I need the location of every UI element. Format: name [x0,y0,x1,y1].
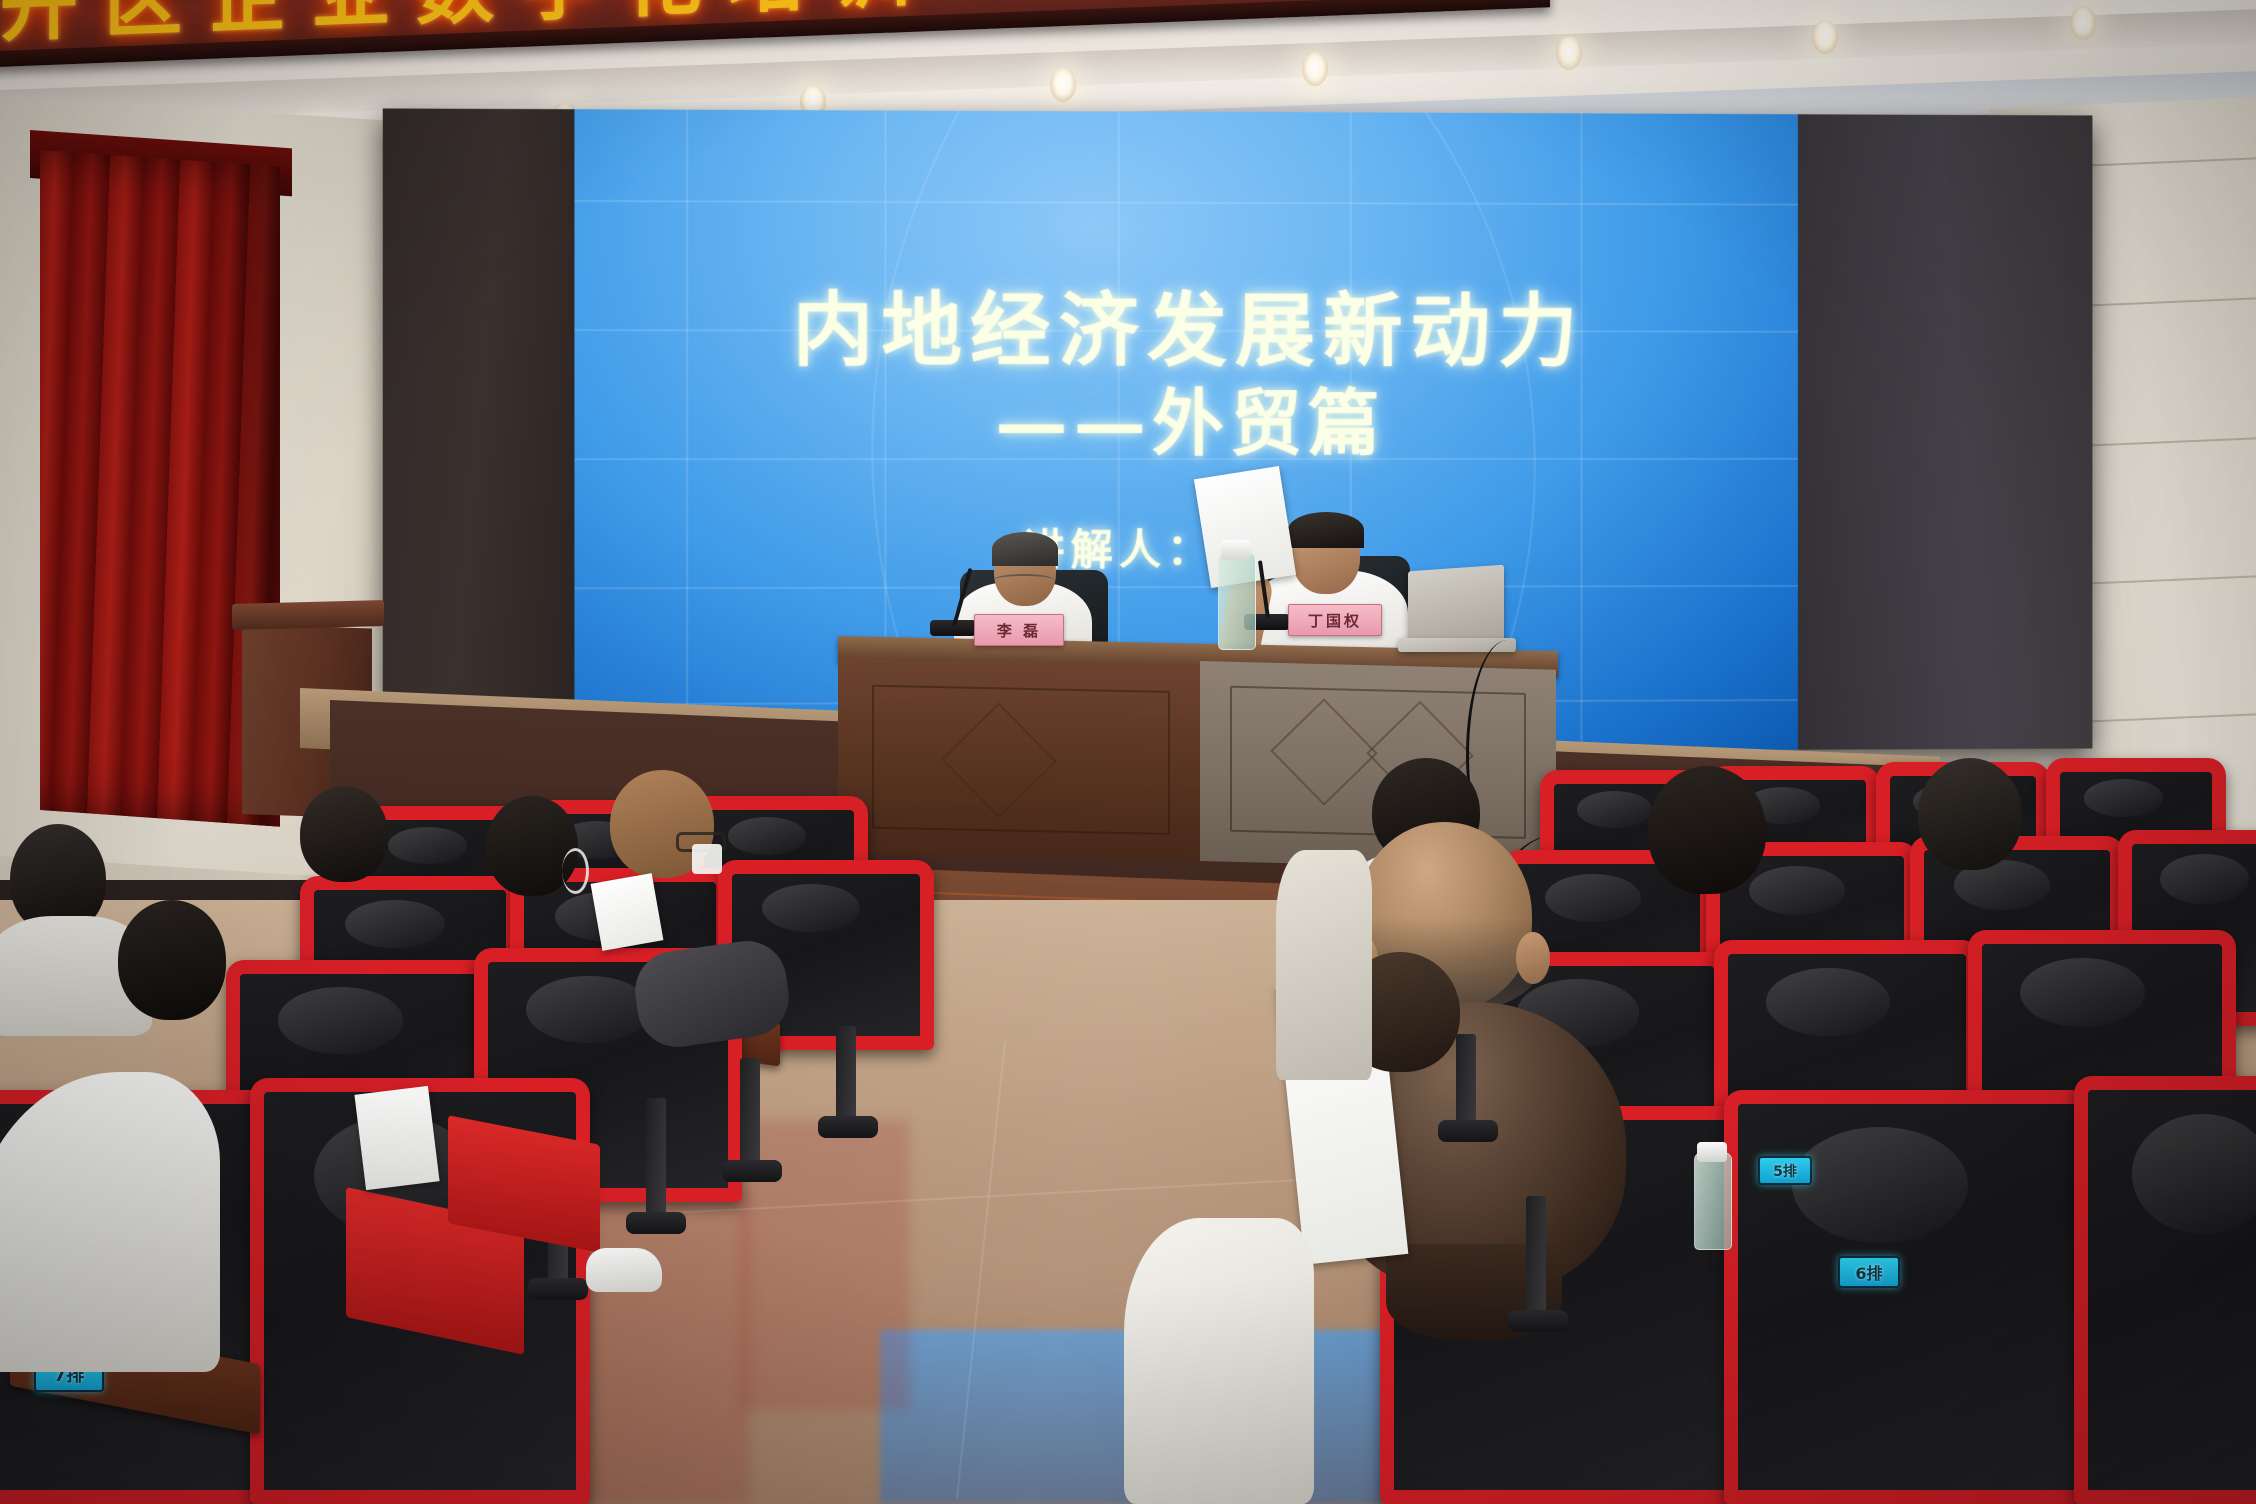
attendee-head [300,786,388,882]
attendee-shoulders [1124,1218,1314,1504]
attendee-document [354,1086,439,1190]
water-bottle-cap [1221,540,1251,560]
attendee-mask [692,844,722,874]
screen-bezel-left [383,108,575,755]
water-bottle-cap [1697,1142,1727,1162]
seat-leg [836,1026,856,1122]
seat-leg-foot [722,1160,782,1182]
seat-tag-right-row5: 5排 [1758,1156,1812,1185]
nameplate-right: 丁国权 [1288,604,1382,636]
seat-leg-foot [1508,1310,1568,1332]
seat-highlight [1792,1127,1968,1243]
seat-highlight [1766,968,1890,1036]
attendee-head [1918,758,2022,870]
seat-tag-right-row6: 6排 [1838,1256,1900,1288]
water-bottle-seat [1694,1152,1732,1250]
attendee-shoulders [1276,850,1372,1080]
seat-highlight [728,817,806,854]
conference-hall-photo: 开区企业数字化培训 [0,0,2256,1504]
lectern-top [232,600,384,630]
speaker-left-hair [992,532,1058,566]
attendee-shoe [586,1248,662,1292]
seat-highlight [1545,874,1641,923]
seat-highlight [278,987,403,1054]
ceiling-downlight [2070,6,2096,40]
slide-subtitle: ——外贸篇 [574,363,1797,469]
seat-leg [646,1098,666,1218]
screen-bezel-right [1798,114,2093,749]
seat-leg [1456,1034,1476,1126]
seat-back [1724,1090,2090,1504]
seat-highlight [2160,854,2249,904]
seat-leg-foot [626,1212,686,1234]
seat-highlight [2084,779,2163,816]
seat-leg [1526,1196,1546,1316]
seat-highlight [388,827,467,864]
seat-highlight [2132,1114,2256,1234]
seat-highlight [1577,791,1652,828]
seat-back [2074,1076,2256,1504]
attendee-head [1648,766,1766,894]
attendee-mask-strap [562,848,589,894]
speaker-right-hair [1288,512,1364,548]
ceiling-downlight [1050,68,1076,102]
seat-highlight [345,900,445,949]
attendee-ear [1516,932,1550,984]
seat-highlight [526,976,651,1044]
seat-leg-foot [528,1278,588,1300]
seat-leg-foot [818,1116,878,1138]
attendee-head [196,824,300,936]
speaker-left-glasses [994,574,1054,586]
seat-right-front-2[interactable] [1724,1090,2090,1504]
seat-highlight [1749,866,1845,915]
ceiling-downlight [1302,52,1328,86]
head-table-front-left [838,658,1204,862]
seat-leg-foot [1438,1120,1498,1142]
seat-leg [740,1058,760,1166]
attendee-document [591,873,664,951]
ceiling-downlight [1812,20,1838,54]
laptop [1408,565,1504,648]
nameplate-left: 李 磊 [974,614,1064,646]
water-bottle-table [1218,552,1256,650]
attendee-shoulders [0,1072,220,1372]
seat-right-front-3[interactable] [2074,1076,2256,1504]
slide-presenter: 讲解人：丁国权 [574,515,1797,578]
ceiling-downlight [1556,36,1582,70]
seat-highlight [2020,958,2145,1027]
seat-highlight [762,884,860,933]
